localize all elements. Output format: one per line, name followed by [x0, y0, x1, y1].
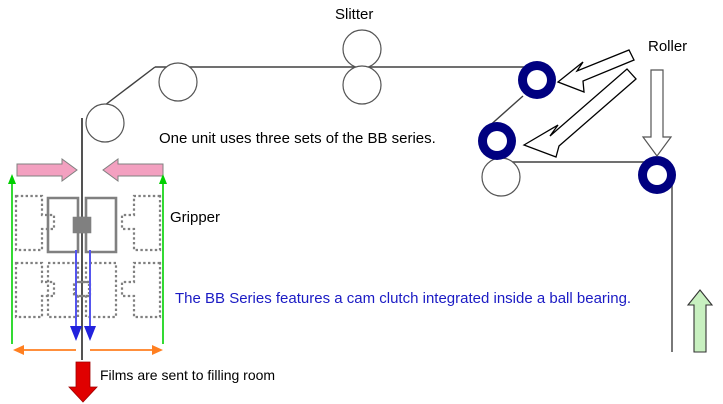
- diagram-canvas: Slitter Roller Gripper One unit uses thr…: [0, 0, 723, 404]
- note-bb-unit-count: One unit uses three sets of the BB serie…: [159, 130, 436, 147]
- note-bb-series-feature: The BB Series features a cam clutch inte…: [175, 290, 631, 307]
- pink-arrow-right: [17, 159, 77, 181]
- label-gripper: Gripper: [170, 209, 220, 226]
- gripper-ghost-lower-inner-right: [74, 263, 116, 317]
- orange-arrow-right-head: [152, 345, 163, 355]
- blue-arrow-down-inner-left-head: [70, 326, 82, 341]
- pink-arrow-left: [103, 159, 163, 181]
- bb-bearing-lower-right[interactable]: [638, 156, 676, 194]
- pink-arrows-group: [17, 159, 163, 181]
- label-roller: Roller: [648, 38, 687, 55]
- roller-nip-lower[interactable]: [482, 158, 520, 196]
- roller-slitter-bottom[interactable]: [343, 66, 381, 104]
- gripper-ghost-upper-right: [122, 196, 160, 250]
- gripper-clamp-block: [75, 218, 89, 232]
- roller-left-turn[interactable]: [86, 104, 124, 142]
- diagram-svg: [0, 0, 723, 404]
- roller-pointer-arrow: [643, 70, 671, 156]
- gripper-ghost-lower-far-right: [122, 263, 160, 317]
- blue-arrow-down-inner-right-head: [84, 326, 96, 341]
- bb-bearing-upper-right[interactable]: [518, 61, 556, 99]
- label-slitter: Slitter: [335, 6, 373, 23]
- red-arrow-down: [69, 362, 97, 402]
- gripper-ghosts-group: [16, 196, 160, 317]
- lightgreen-arrow-up: [688, 290, 712, 352]
- orange-arrow-left-head: [13, 345, 24, 355]
- roller-upper-left[interactable]: [159, 63, 197, 101]
- label-films-sent: Films are sent to filling room: [100, 367, 275, 383]
- gripper-ghost-lower-inner-left: [48, 263, 90, 317]
- green-span-arrows-group: [8, 174, 167, 344]
- orange-arrows-group: [13, 345, 163, 355]
- roller-slitter-top[interactable]: [343, 30, 381, 68]
- bb-bearing-middle[interactable]: [478, 122, 516, 160]
- green-arrow-up-left-head: [8, 174, 16, 184]
